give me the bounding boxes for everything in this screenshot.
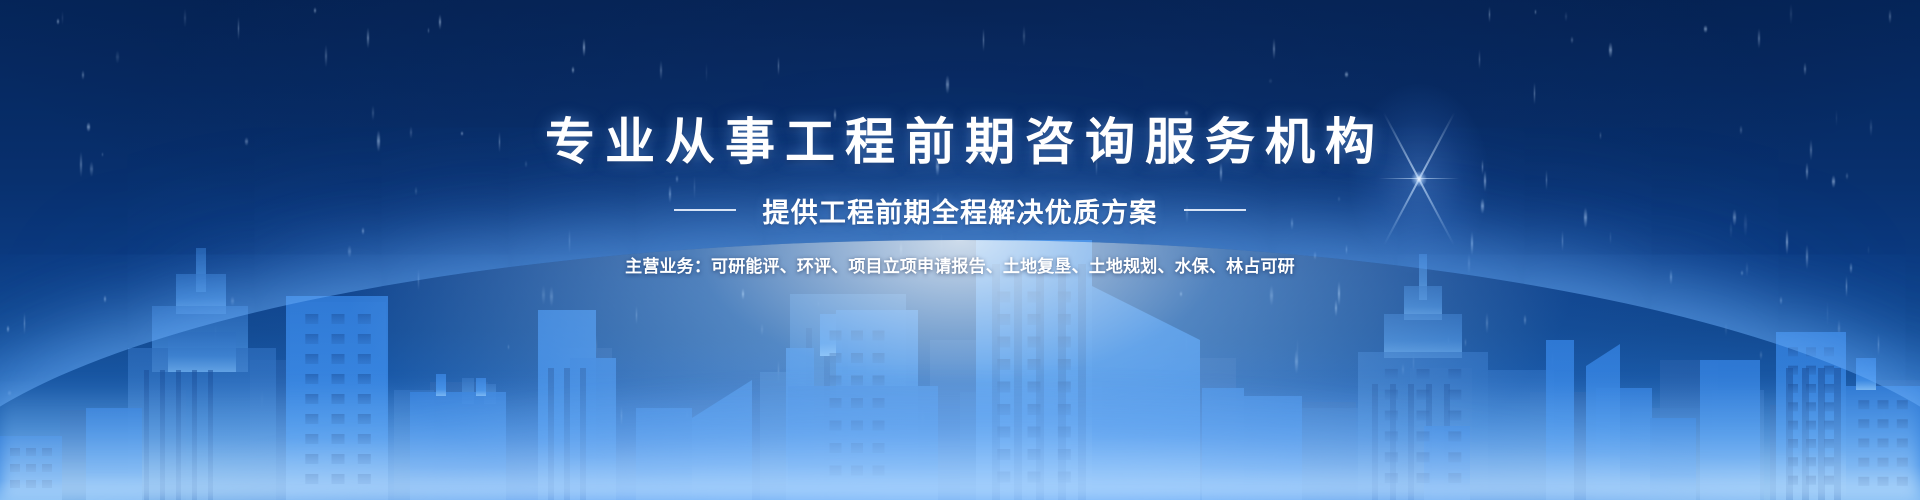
banner-subtitle: 提供工程前期全程解决优质方案 [762,191,1157,230]
page-title: 专业从事工程前期咨询服务机构 [535,116,1385,169]
hero-banner: 专业从事工程前期咨询服务机构 提供工程前期全程解决优质方案 主营业务：可研能评、… [0,0,1920,500]
banner-content: 专业从事工程前期咨询服务机构 提供工程前期全程解决优质方案 主营业务：可研能评、… [0,0,1920,500]
business-scope-text: 主营业务：可研能评、环评、项目立项申请报告、土地复垦、土地规划、水保、林占可研 [625,252,1295,277]
divider-line-left [674,209,736,211]
divider-line-right [1184,209,1246,211]
subtitle-row: 提供工程前期全程解决优质方案 [674,191,1245,230]
